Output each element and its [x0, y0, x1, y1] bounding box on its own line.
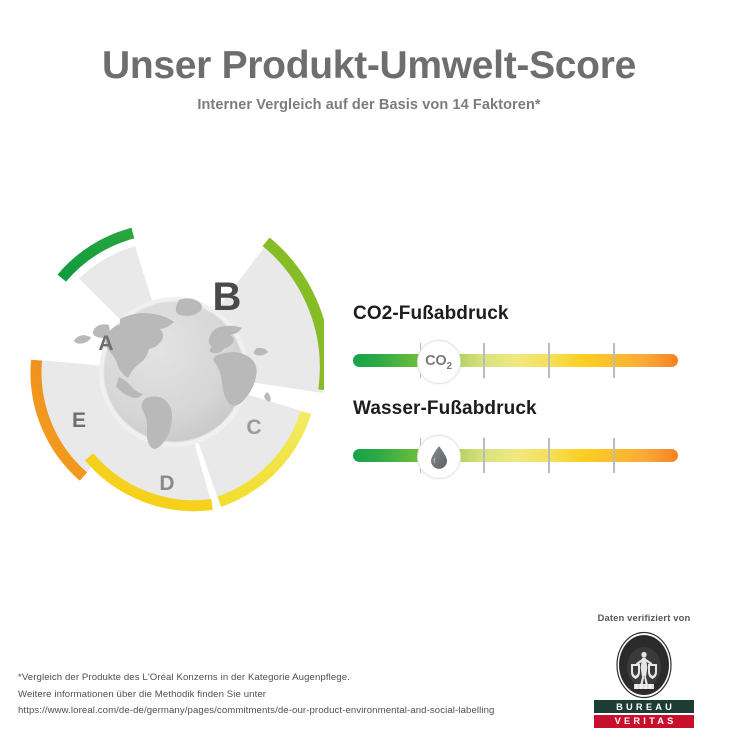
scale-tick: [613, 343, 615, 378]
grade-label-d: D: [159, 472, 174, 495]
metric-water: Wasser-Fußabdruck: [353, 398, 678, 476]
metric-water-gradient-bar: [353, 449, 678, 462]
metric-co2-gradient-bar: [353, 354, 678, 367]
environmental-score-dial: A B C D E: [24, 222, 324, 522]
page-subtitle: Interner Vergleich auf der Basis von 14 …: [0, 97, 738, 113]
scale-tick: [548, 343, 550, 378]
scale-tick: [613, 438, 615, 473]
grade-label-b: B: [213, 275, 242, 319]
footnote-url[interactable]: https://www.loreal.com/de-de/germany/pag…: [18, 703, 578, 720]
metric-co2-label: CO2-Fußabdruck: [353, 303, 678, 325]
grade-label-e: E: [72, 409, 86, 432]
seal-year: 1828: [635, 684, 653, 690]
metric-water-scale: [353, 436, 678, 476]
footnote-line-1: *Vergleich der Produkte des L'Oréal Konz…: [18, 670, 578, 687]
verification-caption: Daten verifiziert von: [560, 612, 728, 623]
water-drop-glyph: [429, 445, 449, 469]
footnote-line-2: Weitere informationen über die Methodik …: [18, 687, 578, 704]
grade-label-c: C: [246, 416, 261, 439]
scale-tick: [483, 438, 485, 473]
product-environmental-score-infographic: Unser Produkt-Umwelt-Score Interner Verg…: [0, 0, 738, 738]
water-drop-icon: [417, 435, 461, 479]
footnotes: *Vergleich der Produkte des L'Oréal Konz…: [18, 670, 578, 720]
metric-co2: CO2-Fußabdruck CO2: [353, 303, 678, 381]
metric-co2-scale: CO2: [353, 341, 678, 381]
score-dial-svg: A B C D E: [24, 222, 324, 522]
bureau-veritas-seal-icon: BUREAU VERITAS: [614, 631, 674, 704]
metric-water-label: Wasser-Fußabdruck: [353, 398, 678, 420]
co2-icon-text: CO2: [425, 353, 452, 372]
seal-svg: BUREAU VERITAS: [614, 631, 674, 699]
co2-icon: CO2: [417, 340, 461, 384]
bureau-veritas-wordmark: BUREAU VERITAS: [594, 700, 694, 728]
wordmark-veritas: VERITAS: [594, 715, 694, 728]
wordmark-bureau: BUREAU: [594, 700, 694, 713]
verification-block: Daten verifiziert von BUREAU VERITAS: [560, 612, 728, 732]
grade-label-a: A: [98, 332, 113, 355]
scale-tick: [483, 343, 485, 378]
co2-icon-subscript: 2: [446, 360, 451, 371]
page-title: Unser Produkt-Umwelt-Score: [0, 44, 738, 88]
scale-tick: [548, 438, 550, 473]
